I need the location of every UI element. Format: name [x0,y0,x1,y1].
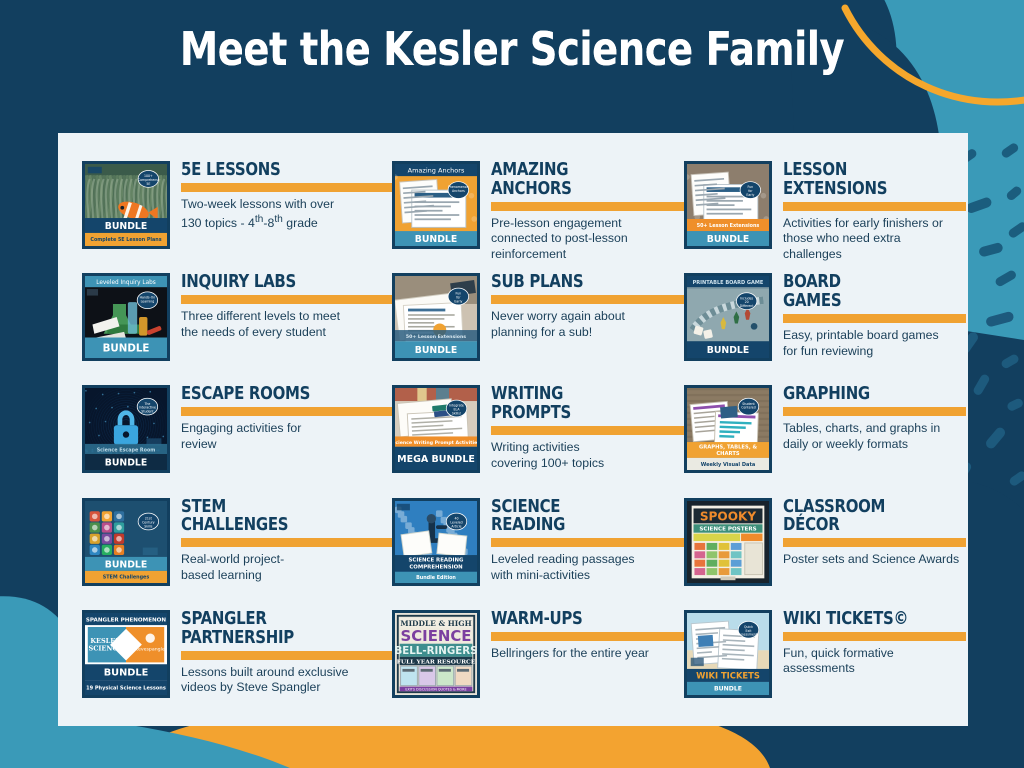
svg-text:SPOOKY: SPOOKY [700,509,757,523]
card-body: ESCAPE ROOMSEngaging activities for revi… [170,379,392,452]
seal-badge: Hands-OnLearning [137,292,158,309]
title-underline-bar [491,426,684,435]
title-underline-bar [181,183,392,192]
title-underline-bar [491,632,684,641]
svg-text:Hands-OnLearning: Hands-OnLearning [140,296,156,304]
stem-icon [114,533,124,543]
lesson-extensions-thumbnail: FunforEarly 50+ Lesson Extensions BUNDLE [684,161,772,249]
product-card-wiki-tickets[interactable]: QuickExitAssessments WIKI TICKETS BUNDLE… [684,604,966,716]
svg-text:SCIENCE: SCIENCE [401,627,472,645]
card-title: AMAZING ANCHORS [491,161,674,199]
card-body: SPANGLER PARTNERSHIPLessons built around… [170,604,392,696]
title-underline-bar [783,632,966,641]
seal-badge: IntegrateELASkills! [446,400,467,417]
svg-text:STEM Challenges: STEM Challenges [103,574,150,580]
card-title: SPANGLER PARTNERSHIP [181,610,381,648]
card-description: Easy, printable board games for fun revi… [783,328,966,359]
card-title: BOARD GAMES [783,273,957,311]
card-body: WIKI TICKETS©Fun, quick formative assess… [772,604,966,677]
svg-text:WIKI TICKETS: WIKI TICKETS [696,670,760,680]
stem-icon [102,522,112,532]
spangler-partnership-thumbnail: SPANGLER PHENOMENON KESLER SCIENCE steve… [82,610,170,698]
card-body: CLASSROOM DÉCORPoster sets and Science A… [772,492,966,568]
seal-badge: TheInteractiveStudent [137,399,158,416]
svg-text:BUNDLE: BUNDLE [707,345,749,356]
product-card-warm-ups[interactable]: MIDDLE & HIGH SCIENCE BELL-RINGERS FULL … [392,604,684,716]
product-card-lesson-extensions[interactable]: FunforEarly 50+ Lesson Extensions BUNDLE… [684,155,966,267]
title-underline-bar [491,295,684,304]
product-card-escape-rooms[interactable]: TheInteractiveStudent Science Escape Roo… [82,379,392,491]
title-underline-bar [783,202,966,211]
card-description: Lessons built around exclusive videos by… [181,665,392,696]
seal-badge: FunforEarly [740,182,761,199]
card-description: Two-week lessons with over130 topics - 4… [181,197,392,231]
card-title: 5E LESSONS [181,161,381,180]
svg-text:SPANGLER PHENOMENON: SPANGLER PHENOMENON [86,617,167,623]
title-underline-bar [783,538,966,547]
svg-text:SCIENCE POSTERS: SCIENCE POSTERS [699,526,756,532]
seal-badge: QuickExitAssessments [738,621,759,638]
card-description: Real-world project- based learning [181,552,392,583]
sub-plans-thumbnail: FunforEarly 50+ Lesson Extensions BUNDLE [392,273,480,361]
product-card-sub-plans[interactable]: FunforEarly 50+ Lesson Extensions BUNDLE… [392,267,684,379]
svg-text:GRAPHS, TABLES, &: GRAPHS, TABLES, & [699,445,758,451]
product-card-classroom-decor[interactable]: SPOOKYSCIENCE POSTERSCLASSROOM DÉCORPost… [684,492,966,604]
card-body: SUB PLANSNever worry again about plannin… [480,267,684,340]
card-title: SCIENCE READING [491,498,674,536]
product-grid: 100+Comprehensi5E BUNDLE Complete 5E Les… [82,155,952,716]
inquiry-labs-thumbnail: Leveled Inquiry Labs Hands-OnLearning BU… [82,273,170,361]
svg-text:Leveled Inquiry Labs: Leveled Inquiry Labs [96,280,156,286]
svg-text:COMPREHENSION: COMPREHENSION [409,564,463,570]
svg-text:Bundle Edition: Bundle Edition [416,575,456,581]
title-underline-bar [181,651,392,660]
card-title: WARM-UPS [491,610,674,629]
card-title: INQUIRY LABS [181,273,381,292]
card-description: Poster sets and Science Awards [783,552,966,568]
card-body: LESSON EXTENSIONSActivities for early fi… [772,155,966,263]
svg-text:Science Escape Room: Science Escape Room [97,448,156,454]
title-underline-bar [181,295,392,304]
svg-text:Complete 5E Lesson Plans: Complete 5E Lesson Plans [90,237,161,243]
svg-text:19 Physical Science Lessons: 19 Physical Science Lessons [86,685,166,691]
svg-text:BUNDLE: BUNDLE [103,343,150,355]
seal-badge: 21stCenturySkills [138,513,159,530]
svg-text:stevespangler: stevespangler [134,646,167,652]
content-panel: 100+Comprehensi5E BUNDLE Complete 5E Les… [58,133,968,726]
stem-icon [114,511,124,521]
svg-text:CHARTS: CHARTS [716,451,740,457]
svg-text:Science Writing Prompt Activit: Science Writing Prompt Activities [395,440,477,446]
card-description: Tables, charts, and graphs in daily or w… [783,421,966,452]
title-underline-bar [491,202,684,211]
card-body: 5E LESSONSTwo-week lessons with over130 … [170,155,392,231]
stem-icon [114,544,124,554]
product-card-amazing-anchors[interactable]: Amazing Anchors PhenomenonAnchors BUNDLE… [392,155,684,267]
stem-icon [90,511,100,521]
seal-badge: StudentCentered [738,399,759,416]
product-card-5e-lessons[interactable]: 100+Comprehensi5E BUNDLE Complete 5E Les… [82,155,392,267]
svg-text:PRINTABLE BOARD GAME: PRINTABLE BOARD GAME [693,280,764,286]
stem-icon [114,522,124,532]
svg-text:EXITS DISCUSSION QUOTES & M: EXITS DISCUSSION QUOTES & MORE [405,687,466,691]
card-body: SCIENCE READINGLeveled reading passages … [480,492,684,584]
card-description: Engaging activities for review [181,421,392,452]
seal-badge: FunforEarly [448,288,469,305]
card-description: Activities for early finishers or those … [783,216,966,263]
card-title: WIKI TICKETS© [783,610,957,629]
board-games-thumbnail: PRINTABLE BOARD GAME Includes20Different… [684,273,772,361]
card-description: Pre-lesson engagement connected to post-… [491,216,684,263]
card-description: Leveled reading passages with mini-activ… [491,552,684,583]
product-card-stem-challenges[interactable]: 21stCenturySkills BUNDLE STEM Challenges… [82,492,392,604]
product-card-inquiry-labs[interactable]: Leveled Inquiry Labs Hands-OnLearning BU… [82,267,392,379]
svg-text:BUNDLE: BUNDLE [707,234,749,245]
product-card-science-reading[interactable]: 40LeveledArticle SCIENCE READING COMPREH… [392,492,684,604]
product-card-writing-prompts[interactable]: IntegrateELASkills! Science Writing Prom… [392,379,684,491]
title-underline-bar [491,538,684,547]
card-description: Never worry again about planning for a s… [491,309,684,340]
svg-text:BUNDLE: BUNDLE [415,345,457,356]
svg-text:SCIENCE: SCIENCE [88,644,122,652]
svg-text:StudentCentered: StudentCentered [741,402,756,410]
title-underline-bar [181,407,392,416]
card-body: GRAPHINGTables, charts, and graphs in da… [772,379,966,452]
card-description: Fun, quick formative assessments [783,646,966,677]
card-body: WRITING PROMPTSWriting activities coveri… [480,379,684,471]
card-title: GRAPHING [783,385,957,404]
amazing-anchors-thumbnail: Amazing Anchors PhenomenonAnchors BUNDLE [392,161,480,249]
card-body: BOARD GAMESEasy, printable board games f… [772,267,966,359]
card-title: ESCAPE ROOMS [181,385,381,404]
svg-text:BELL-RINGERS: BELL-RINGERS [395,645,477,657]
classroom-decor-thumbnail: SPOOKYSCIENCE POSTERS [684,498,772,586]
stem-icon [90,522,100,532]
card-body: STEM CHALLENGESReal-world project- based… [170,492,392,584]
svg-text:BUNDLE: BUNDLE [105,458,147,469]
title-underline-bar [181,538,392,547]
seal-badge: 100+Comprehensi5E [138,171,159,188]
card-title: LESSON EXTENSIONS [783,161,957,199]
stem-icon [90,544,100,554]
product-card-graphing[interactable]: StudentCentered GRAPHS, TABLES, & CHARTS… [684,379,966,491]
svg-text:BUNDLE: BUNDLE [105,221,147,232]
svg-text:FULL YEAR RESOURCE: FULL YEAR RESOURCE [397,658,476,665]
svg-text:Weekly Visual Data: Weekly Visual Data [701,462,755,468]
product-card-spangler-partnership[interactable]: SPANGLER PHENOMENON KESLER SCIENCE steve… [82,604,392,716]
card-title: CLASSROOM DÉCOR [783,498,957,536]
title-underline-bar [783,407,966,416]
product-card-board-games[interactable]: PRINTABLE BOARD GAME Includes20Different… [684,267,966,379]
stem-challenges-thumbnail: 21stCenturySkills BUNDLE STEM Challenges [82,498,170,586]
card-title: WRITING PROMPTS [491,385,674,423]
graphing-thumbnail: StudentCentered GRAPHS, TABLES, & CHARTS… [684,385,772,473]
card-body: INQUIRY LABSThree different levels to me… [170,267,392,340]
stem-icon [102,533,112,543]
seal-badge: 40LeveledArticle [446,513,467,530]
svg-text:Amazing Anchors: Amazing Anchors [408,167,465,175]
stem-icon [102,544,112,554]
card-title: SUB PLANS [491,273,674,292]
card-description: Bellringers for the entire year [491,646,684,662]
writing-prompts-thumbnail: IntegrateELASkills! Science Writing Prom… [392,385,480,473]
svg-text:BUNDLE: BUNDLE [415,234,457,245]
wiki-tickets-thumbnail: QuickExitAssessments WIKI TICKETS BUNDLE [684,610,772,698]
card-title: STEM CHALLENGES [181,498,381,536]
seal-badge: Includes20Different [736,293,757,310]
escape-rooms-thumbnail: TheInteractiveStudent Science Escape Roo… [82,385,170,473]
svg-text:50+ Lesson Extensions: 50+ Lesson Extensions [697,223,760,229]
stem-icon [102,511,112,521]
5e-lessons-thumbnail: 100+Comprehensi5E BUNDLE Complete 5E Les… [82,161,170,249]
title-underline-bar [783,314,966,323]
card-body: AMAZING ANCHORSPre-lesson engagement con… [480,155,684,263]
card-description: Writing activities covering 100+ topics [491,440,684,471]
science-reading-thumbnail: 40LeveledArticle SCIENCE READING COMPREH… [392,498,480,586]
warm-ups-thumbnail: MIDDLE & HIGH SCIENCE BELL-RINGERS FULL … [392,610,480,698]
svg-text:50+ Lesson Extensions: 50+ Lesson Extensions [406,334,466,340]
card-body: WARM-UPSBellringers for the entire year [480,604,684,662]
svg-text:SCIENCE READING: SCIENCE READING [409,557,465,563]
stem-icon [90,533,100,543]
card-description: Three different levels to meet the needs… [181,309,392,340]
page-title: Meet the Kesler Science Family [36,22,988,76]
svg-text:BUNDLE: BUNDLE [104,667,149,678]
board-game-art [687,289,769,341]
svg-text:MEGA BUNDLE: MEGA BUNDLE [397,454,475,465]
svg-text:BUNDLE: BUNDLE [105,559,147,570]
seal-badge: PhenomenonAnchors [448,182,469,199]
svg-text:BUNDLE: BUNDLE [714,685,742,692]
